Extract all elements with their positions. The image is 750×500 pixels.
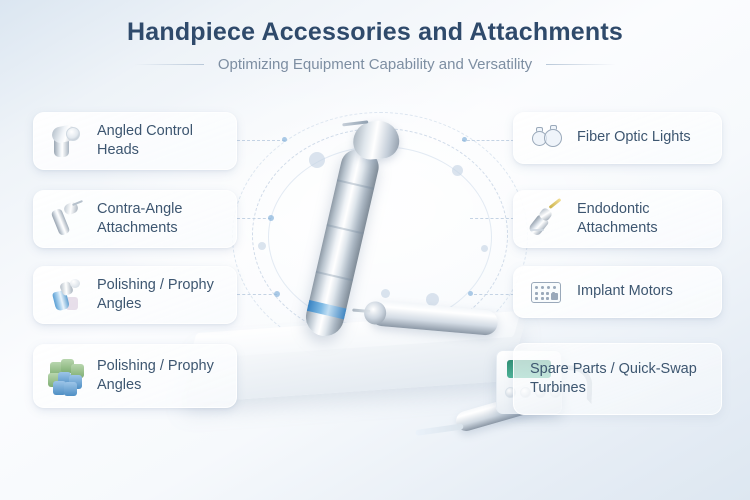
card-fiber-optic-lights[interactable]: Fiber Optic Lights [513,112,722,164]
connector-line-left-3 [237,294,277,295]
page-title: Handpiece Accessories and Attachments [0,18,750,47]
card-label: Spare Parts / Quick-Swap Turbines [530,360,709,398]
decorative-dot-large [309,152,325,168]
subtitle-rule-right [546,64,616,65]
connector-dot [268,215,274,221]
fiber-optic-bulbs-icon [526,118,566,158]
decorative-dot-large [258,242,266,250]
contra-angle-handpiece-icon [46,199,86,239]
control-panel-icon [526,272,566,312]
card-polishing-prophy-angles-2[interactable]: Polishing / Prophy Angles [33,344,237,408]
angled-control-head-icon [46,121,86,161]
card-label: Implant Motors [577,282,673,301]
card-spare-parts-quick-swap-turbines[interactable]: Spare Parts / Quick-Swap Turbines [513,343,722,415]
subtitle-rule-left [134,64,204,65]
endodontic-handpiece-icon [526,199,566,239]
connector-line-right-2 [470,218,514,219]
card-angled-control-heads[interactable]: Angled Control Heads [33,112,237,170]
connector-line-left-1 [237,140,285,141]
card-polishing-prophy-angles-1[interactable]: Polishing / Prophy Angles [33,266,237,324]
connector-dot [462,137,467,142]
card-label: Polishing / Prophy Angles [97,276,224,314]
card-label: Polishing / Prophy Angles [97,357,224,395]
card-contra-angle-attachments[interactable]: Contra-Angle Attachments [33,190,237,248]
card-label: Endodontic Attachments [577,200,709,238]
decorative-dot-large [481,245,488,252]
card-implant-motors[interactable]: Implant Motors [513,266,722,318]
infographic-canvas: Handpiece Accessories and Attachments Op… [0,0,750,500]
connector-line-left-2 [237,218,271,219]
decorative-dot-large [452,165,463,176]
prophy-cups-cluster-icon [46,356,86,396]
subtitle-row: Optimizing Equipment Capability and Vers… [0,56,750,73]
page-subtitle: Optimizing Equipment Capability and Vers… [218,56,532,73]
connector-line-right-1 [462,140,514,141]
card-label: Contra-Angle Attachments [97,200,224,238]
connector-dot [282,137,287,142]
connector-dot [468,291,473,296]
connector-dot [274,291,280,297]
card-endodontic-attachments[interactable]: Endodontic Attachments [513,190,722,248]
card-label: Fiber Optic Lights [577,128,691,147]
prophy-angle-handpiece-icon [46,275,86,315]
background-decoration [0,0,750,500]
card-label: Angled Control Heads [97,122,224,160]
connector-line-right-3 [474,294,514,295]
header: Handpiece Accessories and Attachments Op… [0,18,750,73]
